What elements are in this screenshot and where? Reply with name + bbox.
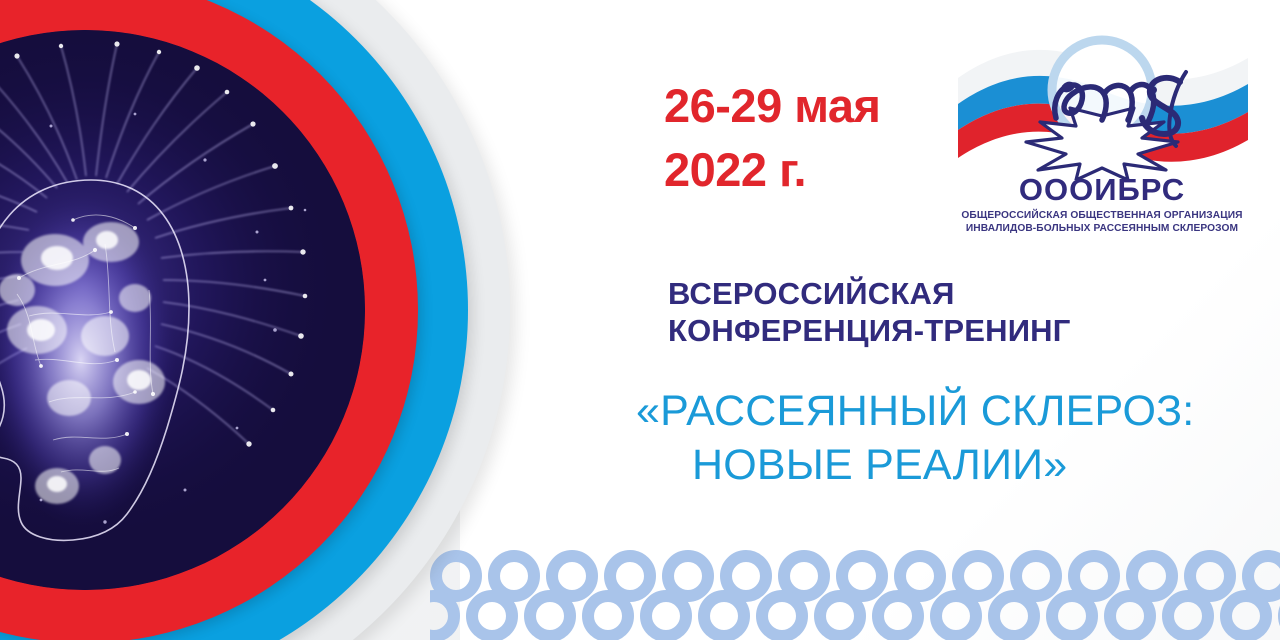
donut-ring <box>640 590 692 640</box>
donut-ring <box>524 590 576 640</box>
event-kicker-line1: ВСЕРОССИЙСКАЯ <box>668 275 1188 312</box>
event-dates: 26-29 мая 2022 г. <box>664 74 964 202</box>
logo-subtitle-line1: ОБЩЕРОССИЙСКАЯ ОБЩЕСТВЕННАЯ ОРГАНИЗАЦИЯ <box>952 210 1252 223</box>
donut-ring <box>582 590 634 640</box>
logo-acronym: ОООИБРС <box>952 174 1252 205</box>
donut-ring <box>698 590 750 640</box>
donut-ring <box>988 590 1040 640</box>
donut-ring <box>466 590 518 640</box>
logo-subtitle-line2: ИНВАЛИДОВ-БОЛЬНЫХ РАССЕЯННЫМ СКЛЕРОЗОМ <box>952 223 1252 236</box>
donut-ring <box>756 590 808 640</box>
donut-ring <box>1104 590 1156 640</box>
organization-logo: ОООИБРС ОБЩЕРОССИЙСКАЯ ОБЩЕСТВЕННАЯ ОРГА… <box>952 30 1252 215</box>
donut-ring <box>1220 590 1272 640</box>
logo-emblem-icon <box>952 30 1252 180</box>
donut-ring <box>430 590 460 640</box>
neural-head-icon <box>0 30 365 590</box>
neural-head-artwork <box>0 30 365 590</box>
donut-ring <box>1046 590 1098 640</box>
event-title-line1: «РАССЕЯННЫЙ СКЛЕРОЗ: <box>636 387 1194 435</box>
dot-row-bottom <box>430 590 1280 640</box>
donut-ring <box>1162 590 1214 640</box>
logo-subtitle: ОБЩЕРОССИЙСКАЯ ОБЩЕСТВЕННАЯ ОРГАНИЗАЦИЯ … <box>952 210 1252 235</box>
event-kicker-line2: КОНФЕРЕНЦИЯ-ТРЕНИНГ <box>668 312 1188 349</box>
donut-ring <box>872 590 924 640</box>
event-date-line2: 2022 г. <box>664 138 964 202</box>
conference-poster: 26-29 мая 2022 г. ВСЕРОССИЙСКАЯ КОНФЕРЕН… <box>0 0 1280 640</box>
ring-dot-pattern <box>430 544 1280 640</box>
event-title-line2: НОВЫЕ РЕАЛИИ» <box>636 438 1236 492</box>
event-date-line1: 26-29 мая <box>664 74 964 138</box>
donut-ring <box>814 590 866 640</box>
donut-ring <box>930 590 982 640</box>
event-kicker: ВСЕРОССИЙСКАЯ КОНФЕРЕНЦИЯ-ТРЕНИНГ <box>668 275 1188 349</box>
event-title: «РАССЕЯННЫЙ СКЛЕРОЗ: НОВЫЕ РЕАЛИИ» <box>636 384 1236 492</box>
